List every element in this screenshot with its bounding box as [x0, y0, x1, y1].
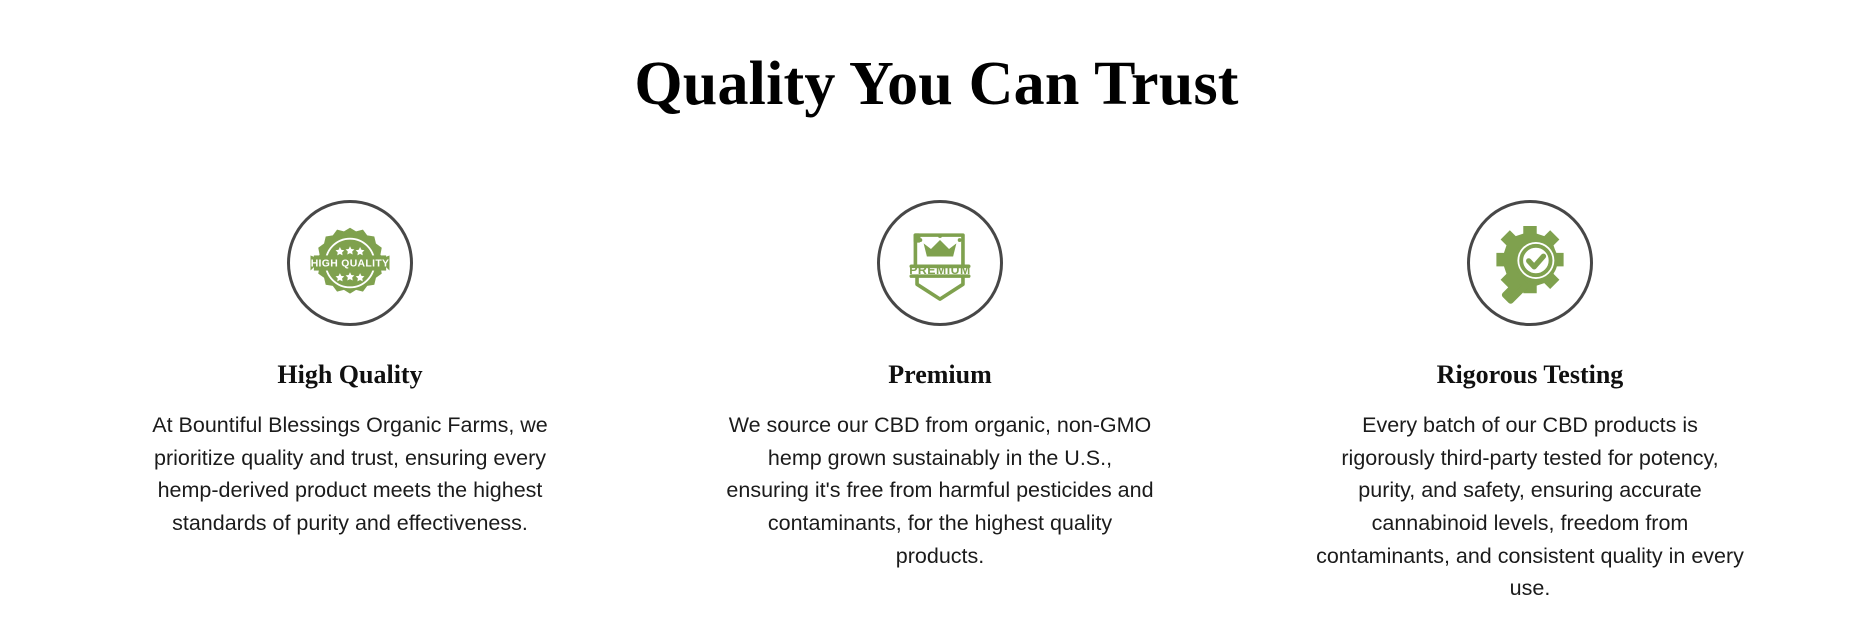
- quality-you-can-trust-section: Quality You Can Trust: [0, 0, 1873, 624]
- icon-ring-high-quality: HIGH QUALITY: [287, 200, 413, 326]
- svg-text:PREMIUM: PREMIUM: [909, 263, 971, 277]
- card-body: At Bountiful Blessings Organic Farms, we…: [135, 409, 565, 540]
- high-quality-badge-icon: HIGH QUALITY: [308, 221, 392, 305]
- card-title: High Quality: [277, 359, 422, 390]
- card-body: We source our CBD from organic, non-GMO …: [724, 409, 1156, 572]
- feature-card-high-quality: HIGH QUALITY High Quality At Bountiful B…: [55, 200, 645, 540]
- feature-card-rigorous-testing: Rigorous Testing Every batch of our CBD …: [1235, 200, 1825, 605]
- icon-ring-rigorous-testing: [1467, 200, 1593, 326]
- feature-card-premium: PREMIUM Premium We source our CBD from o…: [645, 200, 1235, 573]
- card-body: Every batch of our CBD products is rigor…: [1313, 409, 1747, 605]
- page-title: Quality You Can Trust: [634, 52, 1238, 118]
- gear-magnifier-check-icon: [1488, 221, 1572, 305]
- card-title: Rigorous Testing: [1437, 359, 1624, 390]
- icon-ring-premium: PREMIUM: [877, 200, 1003, 326]
- svg-text:HIGH QUALITY: HIGH QUALITY: [311, 258, 390, 269]
- feature-card-list: HIGH QUALITY High Quality At Bountiful B…: [0, 200, 1873, 605]
- premium-crown-banner-icon: PREMIUM: [899, 222, 981, 304]
- card-title: Premium: [888, 359, 992, 390]
